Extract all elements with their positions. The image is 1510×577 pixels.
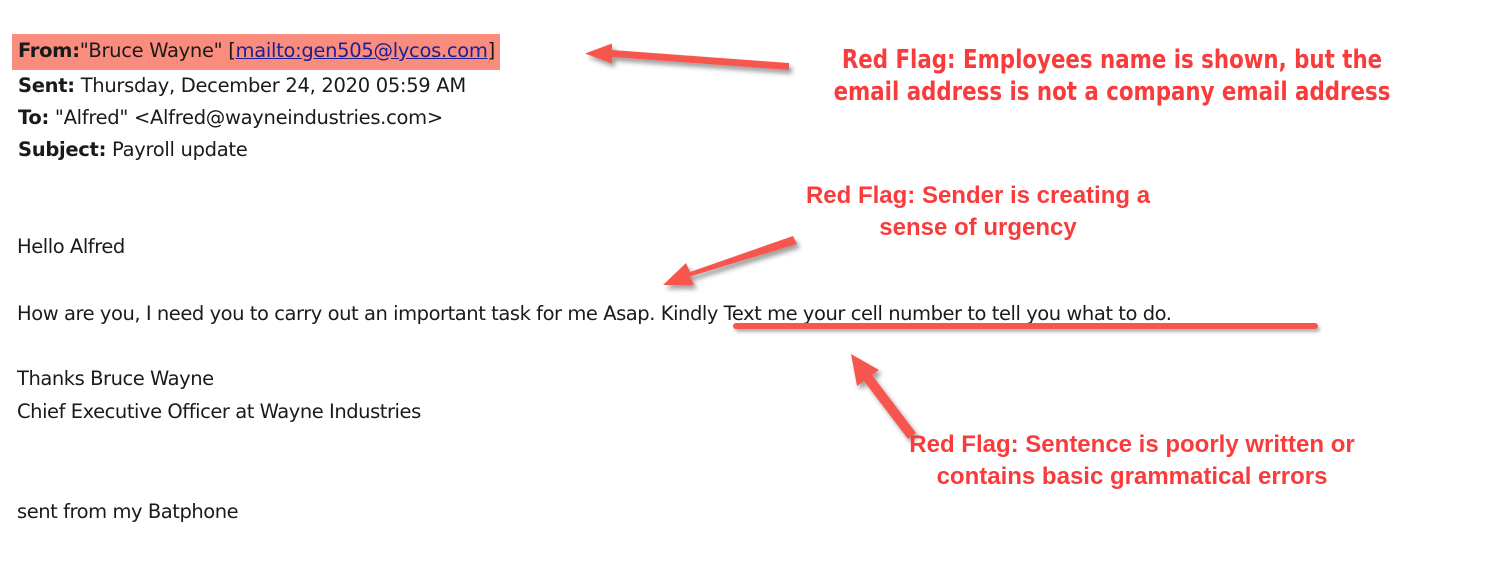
subject-value: Payroll update [112,138,247,161]
red-underline-marker [733,323,1318,329]
sent-value: Thursday, December 24, 2020 05:59 AM [81,74,466,97]
annotation-text-sender-address: Red Flag: Employees name is shown, but t… [805,44,1419,108]
from-line-highlight: From:"Bruce Wayne" [mailto:gen505@lycos.… [12,34,500,70]
email-header-block: From:"Bruce Wayne" [mailto:gen505@lycos.… [18,34,658,166]
email-header-subject-row: Subject: Payroll update [18,134,658,166]
email-header-to-row: To: "Alfred" <Alfred@wayneindustries.com… [18,102,658,134]
annotation-text-grammar: Red Flag: Sentence is poorly written or … [862,429,1402,493]
email-red-flags-annotated-image: From:"Bruce Wayne" [mailto:gen505@lycos.… [0,0,1510,577]
mailto-link[interactable]: mailto:gen505@lycos.com [236,39,488,62]
email-header-from-row: From:"Bruce Wayne" [mailto:gen505@lycos.… [18,34,658,70]
from-suffix: ] [488,39,495,62]
annotation-text-urgency: Red Flag: Sender is creating a sense of … [748,180,1208,244]
arrow-to-grammar-phrase [851,354,916,439]
from-value: "Bruce Wayne" [ [80,39,236,62]
email-signature-title: Chief Executive Officer at Wayne Industr… [17,396,421,428]
email-greeting: Hello Alfred [17,231,125,263]
subject-label: Subject: [18,138,106,161]
email-header-sent-row: Sent: Thursday, December 24, 2020 05:59 … [18,70,658,102]
to-value: "Alfred" <Alfred@wayneindustries.com> [55,106,443,129]
email-footer-sent-from: sent from my Batphone [17,496,238,528]
sent-label: Sent: [18,74,75,97]
email-signature-name: Thanks Bruce Wayne [17,363,214,395]
from-label: From: [18,39,80,62]
to-label: To: [18,106,49,129]
